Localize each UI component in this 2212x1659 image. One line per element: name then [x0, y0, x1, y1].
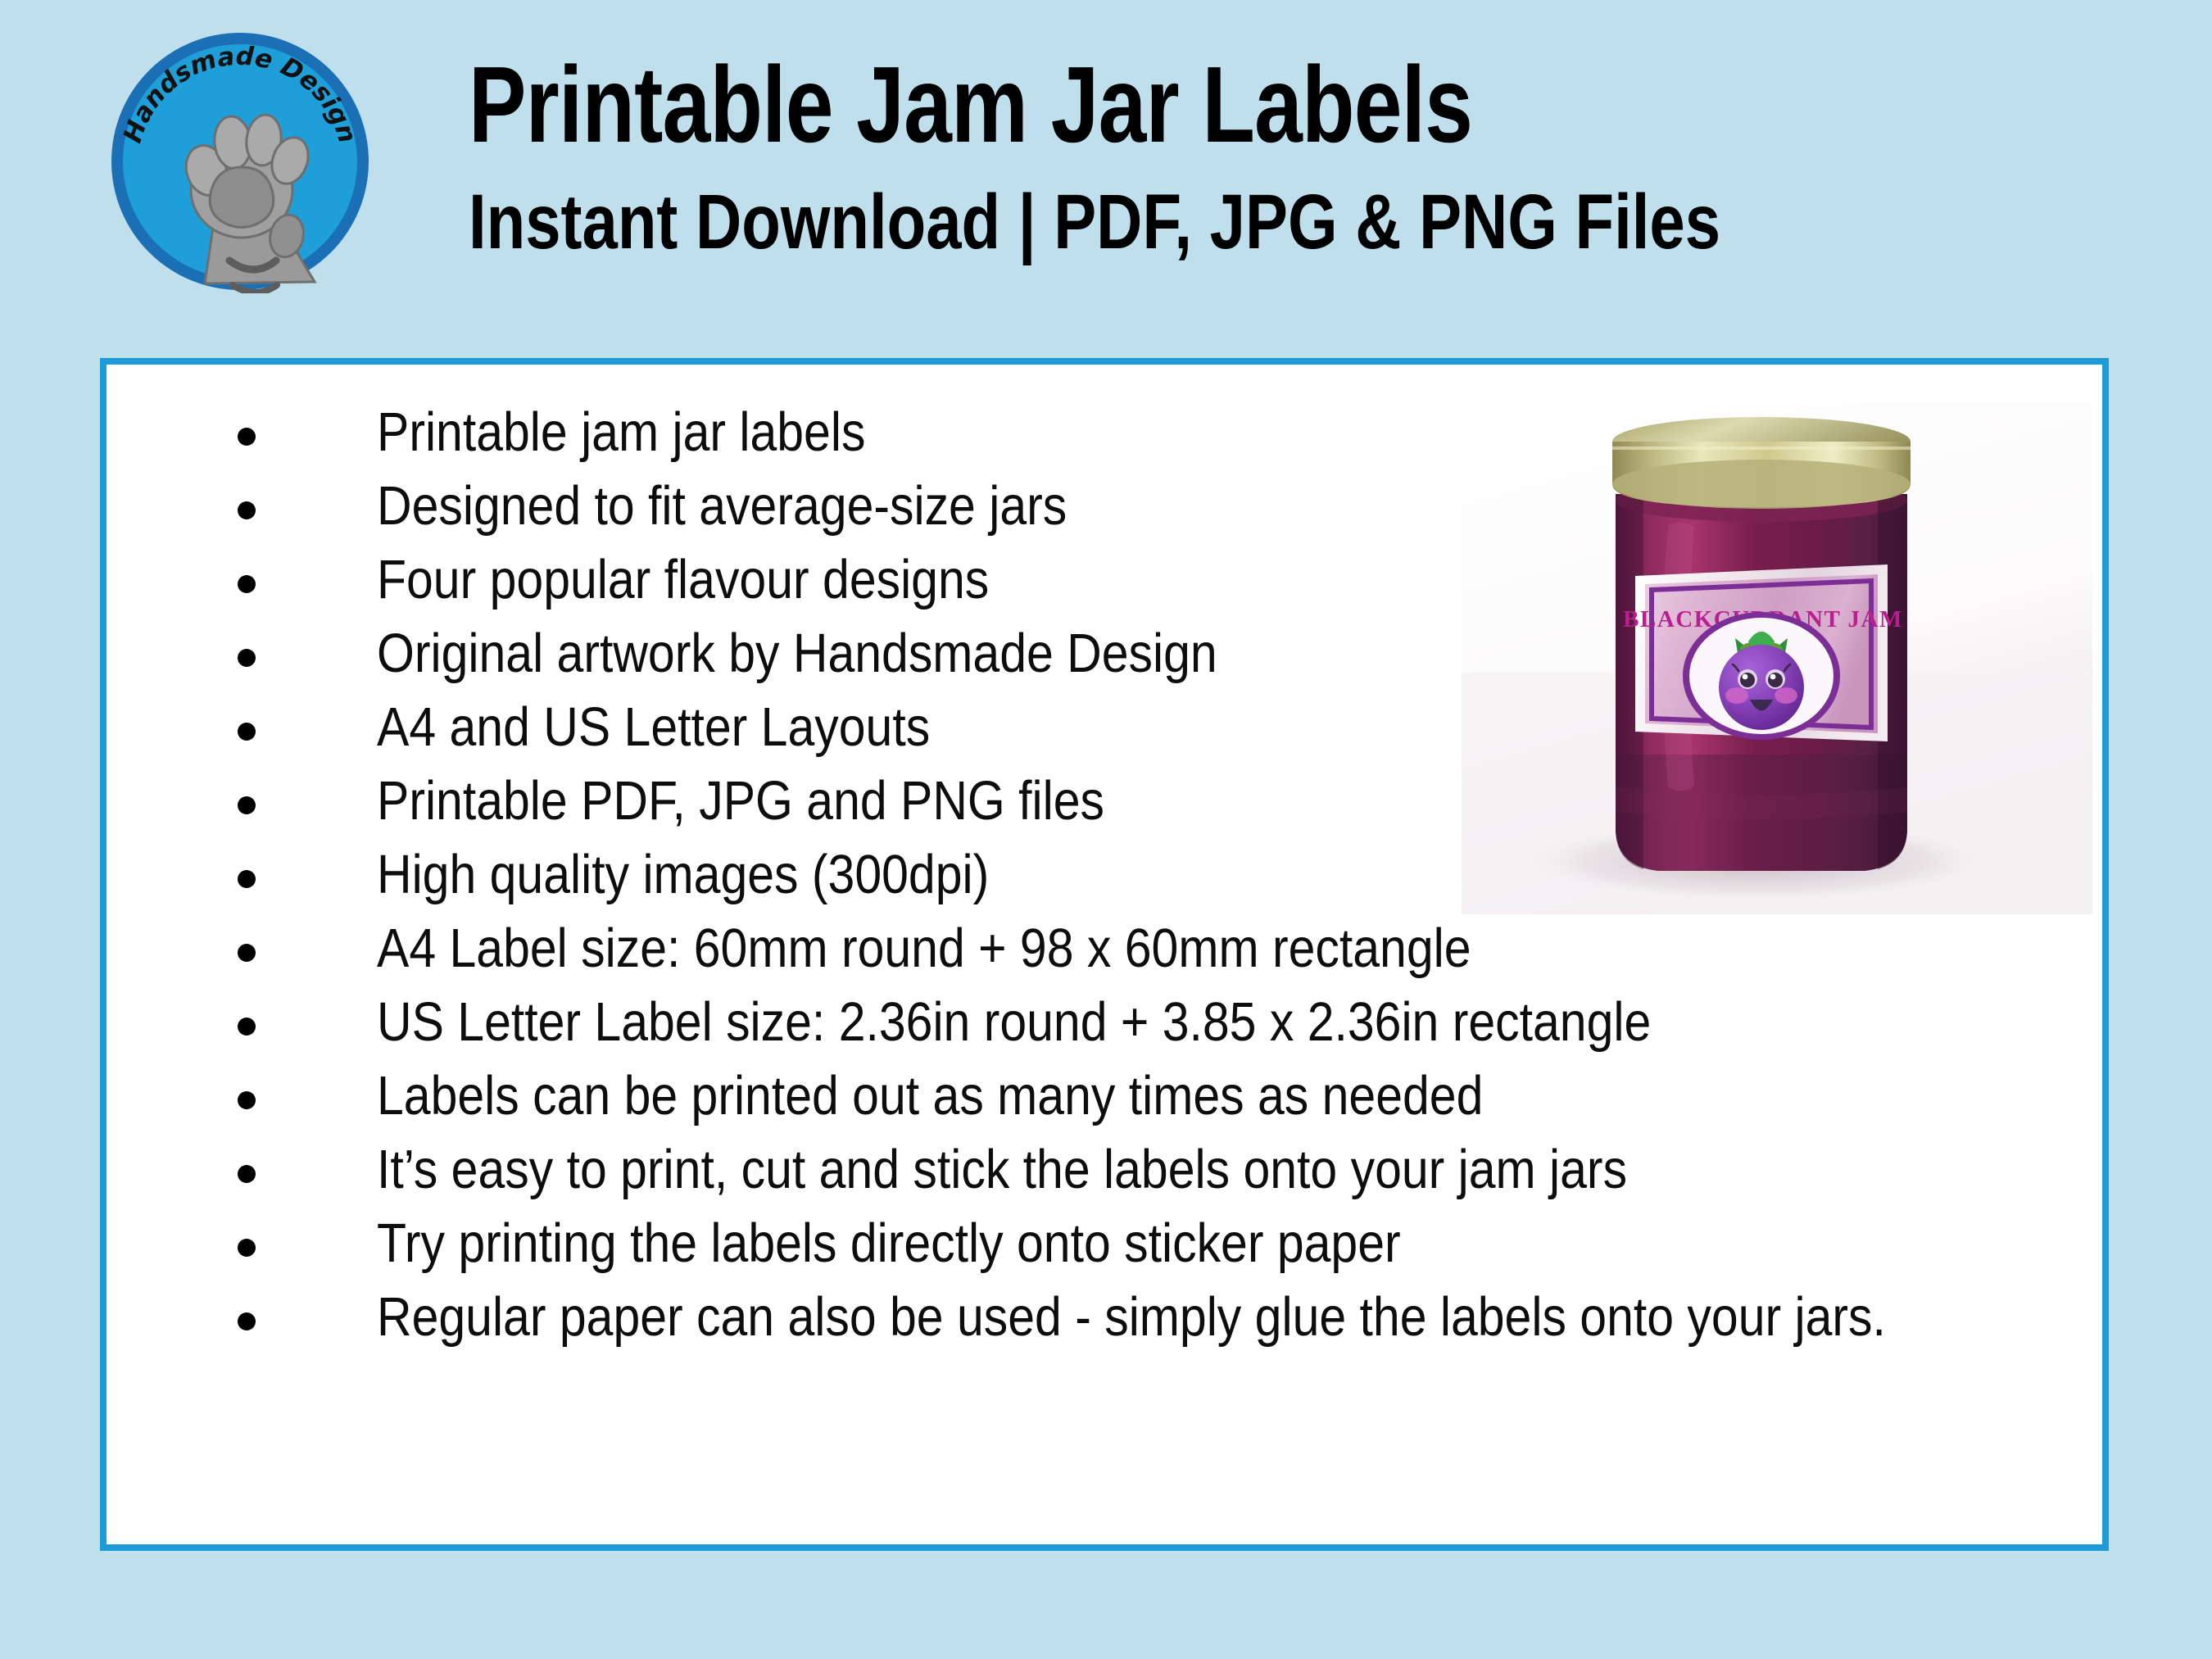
bullet-icon	[238, 501, 256, 519]
bullet-icon	[238, 575, 256, 593]
title-block: Printable Jam Jar Labels Instant Downloa…	[469, 51, 2025, 261]
jar-label: BLACKCURRANT JAM	[1623, 564, 1903, 741]
feature-text: Four popular flavour designs	[377, 543, 989, 617]
bullet-icon	[238, 649, 256, 667]
list-item: Regular paper can also be used - simply …	[131, 1281, 1852, 1354]
list-item: Labels can be printed out as many times …	[131, 1059, 1852, 1133]
jar-lid	[1612, 417, 1911, 509]
page-title: Printable Jam Jar Labels	[469, 51, 1714, 159]
bullet-icon	[238, 870, 256, 888]
feature-text: Labels can be printed out as many times …	[377, 1059, 1483, 1133]
feature-text: It’s easy to print, cut and stick the la…	[377, 1133, 1627, 1207]
feature-text: Printable PDF, JPG and PNG files	[377, 764, 1104, 838]
list-item: It’s easy to print, cut and stick the la…	[131, 1133, 1852, 1207]
feature-text: US Letter Label size: 2.36in round + 3.8…	[377, 986, 1651, 1059]
bullet-icon	[238, 944, 256, 962]
page-header: Handsmade Design Printable Jam Jar Label…	[0, 0, 2212, 344]
bullet-icon	[238, 428, 256, 446]
brand-logo: Handsmade Design	[108, 29, 372, 293]
page-subtitle: Instant Download | PDF, JPG & PNG Files	[469, 184, 1745, 261]
bullet-icon	[238, 1018, 256, 1036]
bullet-icon	[238, 1239, 256, 1257]
feature-text: Try printing the labels directly onto st…	[377, 1207, 1401, 1281]
feature-text: Printable jam jar labels	[377, 396, 865, 469]
list-item: A4 Label size: 60mm round + 98 x 60mm re…	[131, 912, 1852, 986]
feature-text: High quality images (300dpi)	[377, 838, 989, 912]
feature-text: Regular paper can also be used - simply …	[377, 1281, 1886, 1354]
feature-text: Original artwork by Handsmade Design	[377, 617, 1217, 691]
bullet-icon	[238, 1091, 256, 1109]
bullet-icon	[238, 796, 256, 814]
content-card: Printable jam jar labelsDesigned to fit …	[100, 358, 2109, 1551]
list-item: Try printing the labels directly onto st…	[131, 1207, 1852, 1281]
bullet-icon	[238, 723, 256, 741]
bullet-icon	[238, 1312, 256, 1330]
feature-text: A4 and US Letter Layouts	[377, 691, 930, 764]
jam-jar-photo: BLACKCURRANT JAM	[1462, 402, 2092, 914]
list-item: US Letter Label size: 2.36in round + 3.8…	[131, 986, 1852, 1059]
bullet-icon	[238, 1165, 256, 1183]
feature-text: A4 Label size: 60mm round + 98 x 60mm re…	[377, 912, 1471, 986]
feature-text: Designed to fit average-size jars	[377, 469, 1067, 543]
